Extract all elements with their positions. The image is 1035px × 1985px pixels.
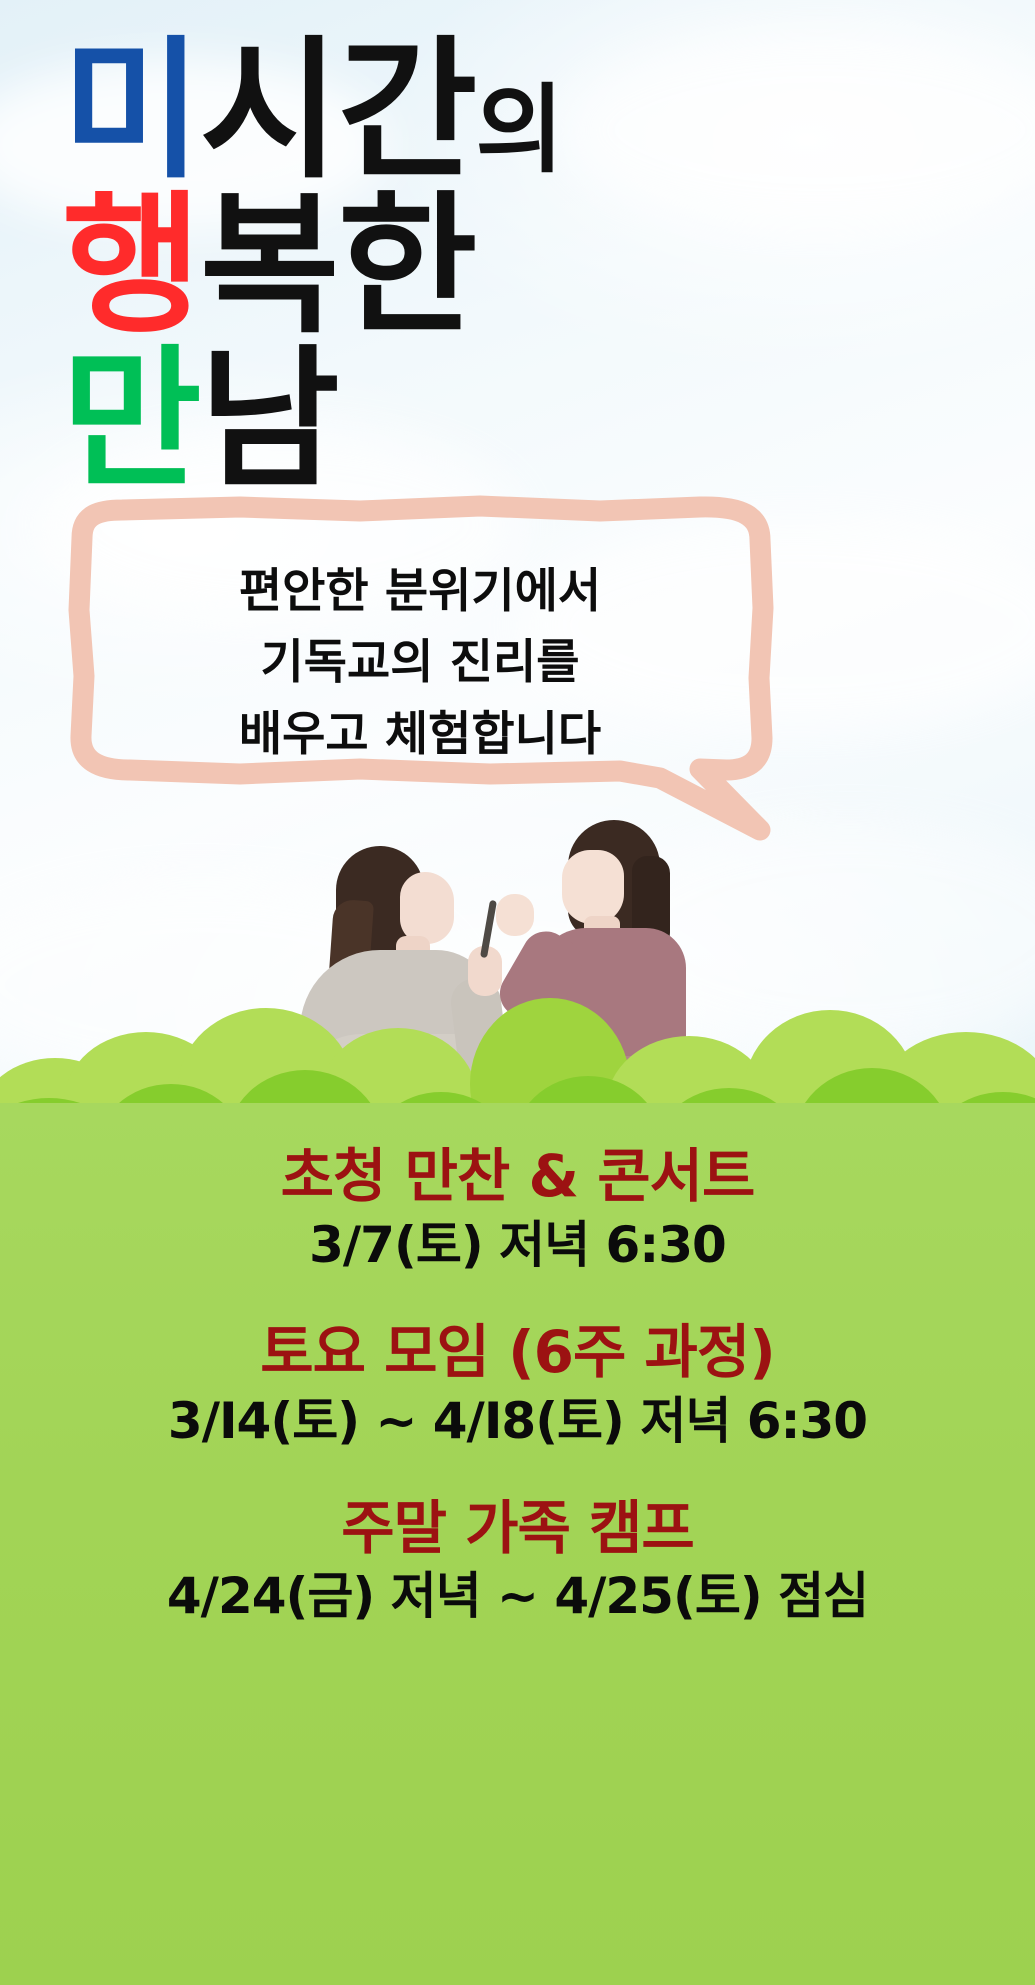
headline-char-blue: 미 [62, 22, 200, 199]
headline-char-red: 행 [62, 177, 200, 354]
event-item: 토요 모임 (6주 과정) 3/I4(토) ~ 4/I8(토) 저녁 6:30 [0, 1317, 1035, 1453]
headline-char-black: 시간 [200, 22, 476, 199]
headline-char-black: 남 [200, 331, 338, 508]
event-info-panel: 초청 만찬 & 콘서트 3/7(토) 저녁 6:30 토요 모임 (6주 과정)… [0, 1103, 1035, 1985]
poster-headline: 미시간의 행복한 만남 [62, 40, 563, 490]
headline-char-black: 복한 [200, 177, 476, 354]
child-face [562, 850, 624, 924]
event-date: 3/I4(토) ~ 4/I8(토) 저녁 6:30 [0, 1390, 1035, 1453]
bubble-line-1: 편안한 분위기에서 [60, 556, 780, 627]
event-item: 주말 가족 캠프 4/24(금) 저녁 ~ 4/25(토) 점심 [0, 1493, 1035, 1629]
poster-root: 미시간의 행복한 만남 편안한 분위기에서 기독교의 진리를 배우고 체험합니다 [0, 0, 1035, 1985]
headline-line-2: 행복한 [62, 195, 563, 336]
speech-bubble: 편안한 분위기에서 기독교의 진리를 배우고 체험합니다 [60, 498, 780, 838]
headline-line-1: 미시간의 [62, 40, 563, 181]
event-date: 4/24(금) 저녁 ~ 4/25(토) 점심 [0, 1565, 1035, 1628]
headline-char-green: 만 [62, 331, 200, 508]
event-title: 주말 가족 캠프 [0, 1493, 1035, 1564]
speech-bubble-text: 편안한 분위기에서 기독교의 진리를 배우고 체험합니다 [60, 556, 780, 770]
event-title: 초청 만찬 & 콘서트 [0, 1141, 1035, 1212]
event-item: 초청 만찬 & 콘서트 3/7(토) 저녁 6:30 [0, 1141, 1035, 1277]
headline-line-3: 만남 [62, 349, 563, 490]
bubble-line-2: 기독교의 진리를 [60, 627, 780, 698]
event-date: 3/7(토) 저녁 6:30 [0, 1214, 1035, 1277]
cloud-shape [560, 30, 1035, 230]
adult-face [400, 872, 454, 944]
child-hand [496, 894, 534, 936]
headline-char-suffix: 의 [476, 74, 563, 186]
bubble-line-3: 배우고 체험합니다 [60, 699, 780, 770]
event-title: 토요 모임 (6주 과정) [0, 1317, 1035, 1388]
